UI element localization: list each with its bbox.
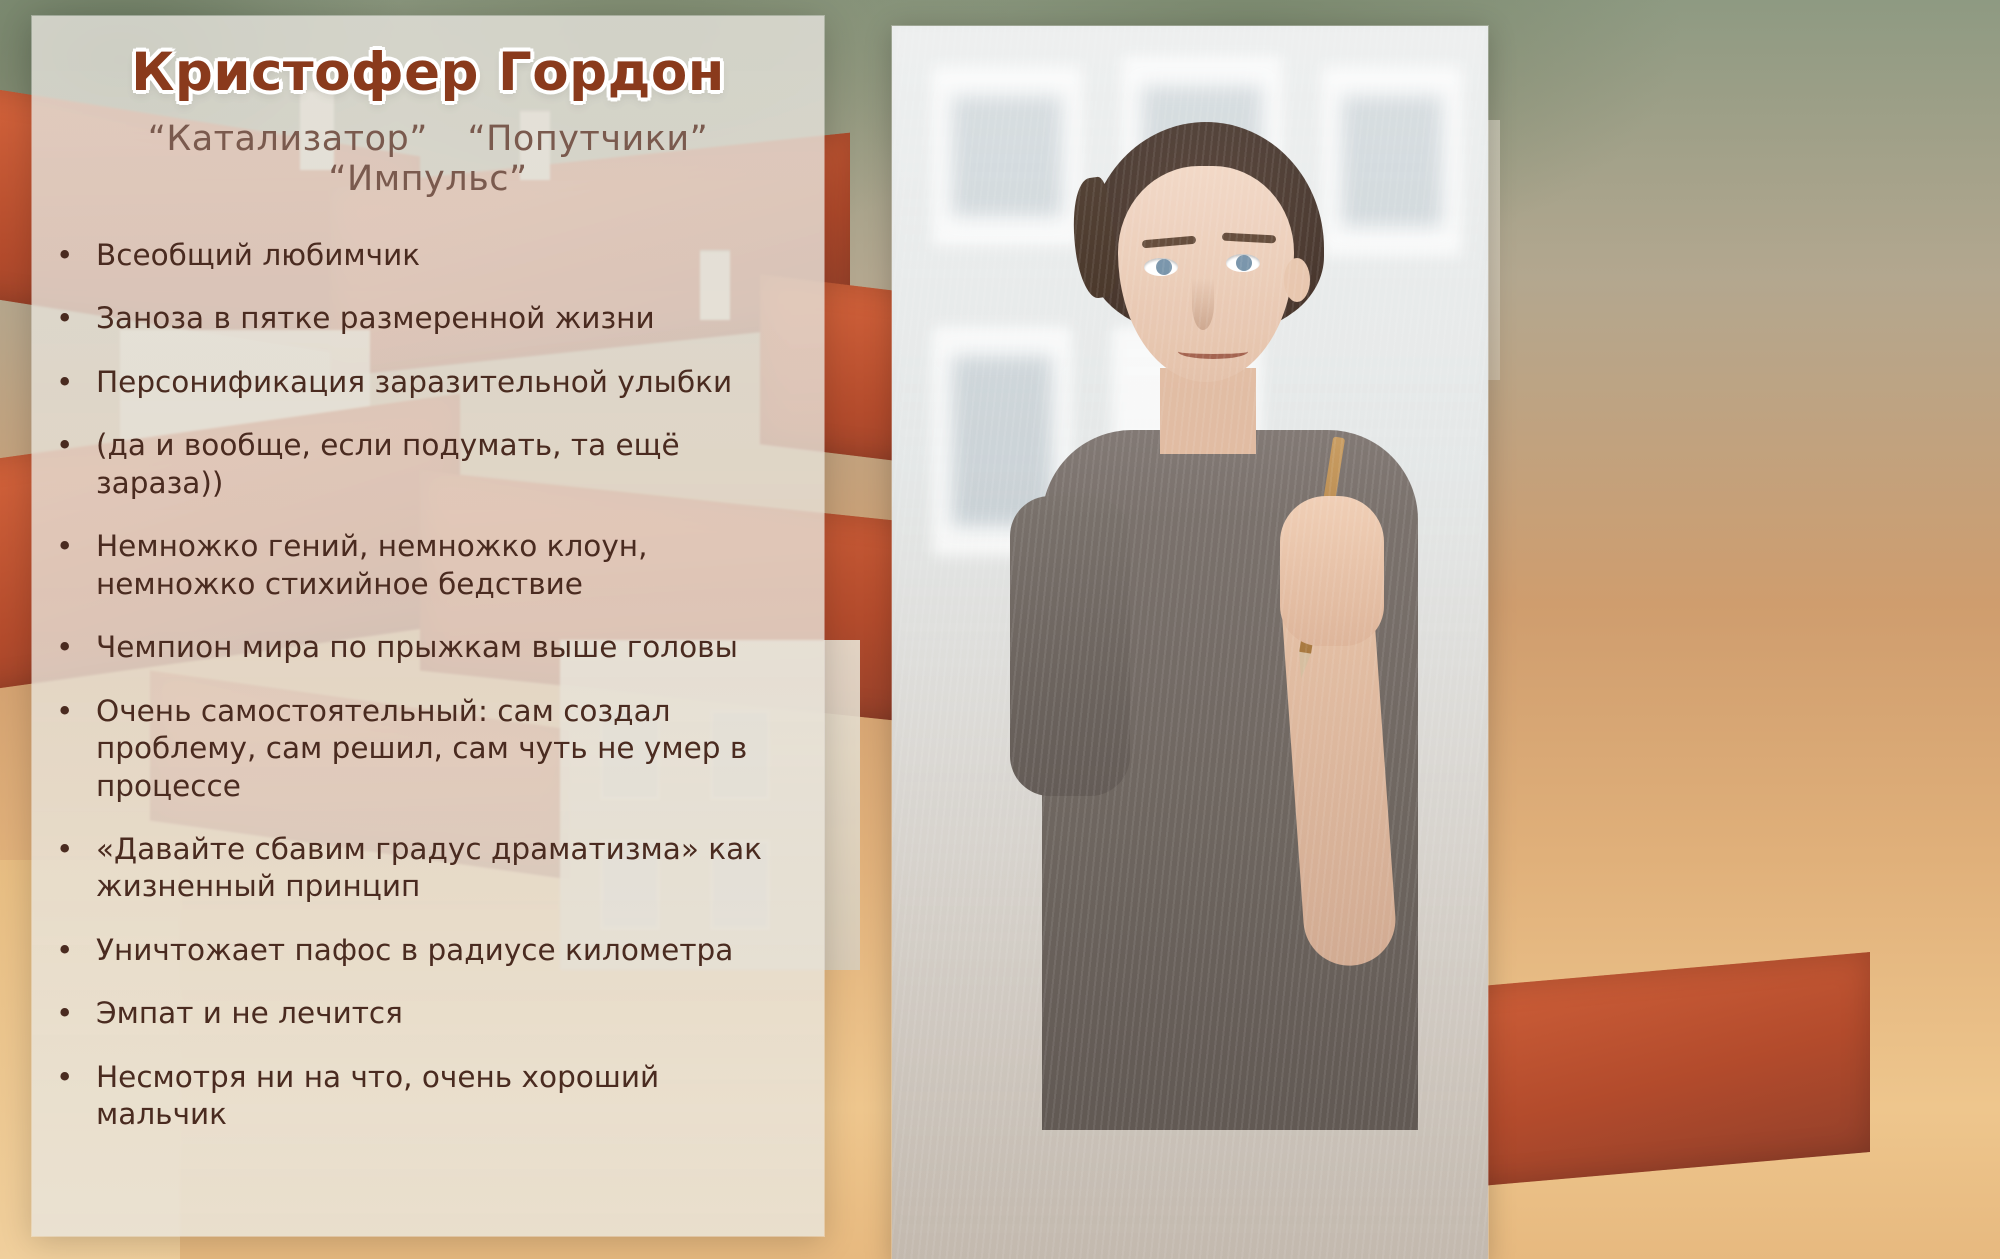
bullet-marker-icon: • [76, 364, 96, 401]
list-item: •Несмотря ни на что, очень хороший мальч… [62, 1059, 788, 1134]
list-item: •Эмпат и не лечится [62, 995, 788, 1032]
iris-left [1156, 259, 1172, 275]
character-portrait-illustration [892, 26, 1488, 1259]
work-title-1: “Катализатор” [148, 119, 428, 159]
list-item-label: Очень самостоятельный: сам создал пробле… [96, 694, 747, 803]
list-item-label: Чемпион мира по прыжкам выше головы [96, 630, 738, 664]
list-item: •Персонификация заразительной улыбки [62, 364, 788, 401]
hand-holding-pencil [1280, 496, 1384, 646]
slide-canvas: Кристофер Гордон “Катализатор” “Попутчик… [0, 0, 2000, 1259]
list-item: •Всеобщий любимчик [62, 237, 788, 274]
list-item-label: Эмпат и не лечится [96, 996, 403, 1030]
list-item-label: Несмотря ни на что, очень хороший мальчи… [96, 1060, 659, 1131]
figure-group [892, 26, 1488, 1259]
list-item-label: «Давайте сбавим градус драматизма» как ж… [96, 832, 762, 903]
bullet-marker-icon: • [76, 1059, 96, 1096]
bullet-marker-icon: • [76, 693, 96, 730]
bullet-marker-icon: • [76, 932, 96, 969]
sleeve-left [1010, 496, 1130, 796]
page-title: Кристофер Гордон [32, 42, 824, 103]
bullet-marker-icon: • [76, 300, 96, 337]
list-item-label: Уничтожает пафос в радиусе километра [96, 933, 733, 967]
list-item-label: Заноза в пятке размеренной жизни [96, 301, 655, 335]
nose [1192, 278, 1214, 330]
list-item: •Заноза в пятке размеренной жизни [62, 300, 788, 337]
bullet-marker-icon: • [76, 995, 96, 1032]
work-title-3: “Импульс” [328, 159, 527, 199]
bullet-marker-icon: • [76, 427, 96, 464]
list-item: •(да и вообще, если подумать, та ещё зар… [62, 427, 788, 502]
bullet-marker-icon: • [76, 831, 96, 868]
work-title-2: “Попутчики” [467, 119, 708, 159]
bullet-marker-icon: • [76, 237, 96, 274]
list-item-label: (да и вообще, если подумать, та ещё зара… [96, 428, 680, 499]
ear [1284, 258, 1310, 302]
subtitle-works-list: “Катализатор” “Попутчики” “Импульс” [32, 119, 824, 199]
bullet-marker-icon: • [76, 528, 96, 565]
list-item: •Уничтожает пафос в радиусе километра [62, 932, 788, 969]
list-item-label: Персонификация заразительной улыбки [96, 365, 732, 399]
list-item: •«Давайте сбавим градус драматизма» как … [62, 831, 788, 906]
mouth-smile [1178, 344, 1248, 359]
list-item-label: Всеобщий любимчик [96, 238, 420, 272]
list-item: •Немножко гений, немножко клоун, немножк… [62, 528, 788, 603]
iris-right [1236, 255, 1252, 271]
list-item: •Чемпион мира по прыжкам выше головы [62, 629, 788, 666]
bullet-marker-icon: • [76, 629, 96, 666]
list-item: •Очень самостоятельный: сам создал пробл… [62, 693, 788, 805]
character-info-card: Кристофер Гордон “Катализатор” “Попутчик… [32, 16, 824, 1236]
character-traits-list: •Всеобщий любимчик •Заноза в пятке разме… [62, 237, 788, 1134]
list-item-label: Немножко гений, немножко клоун, немножко… [96, 529, 647, 600]
